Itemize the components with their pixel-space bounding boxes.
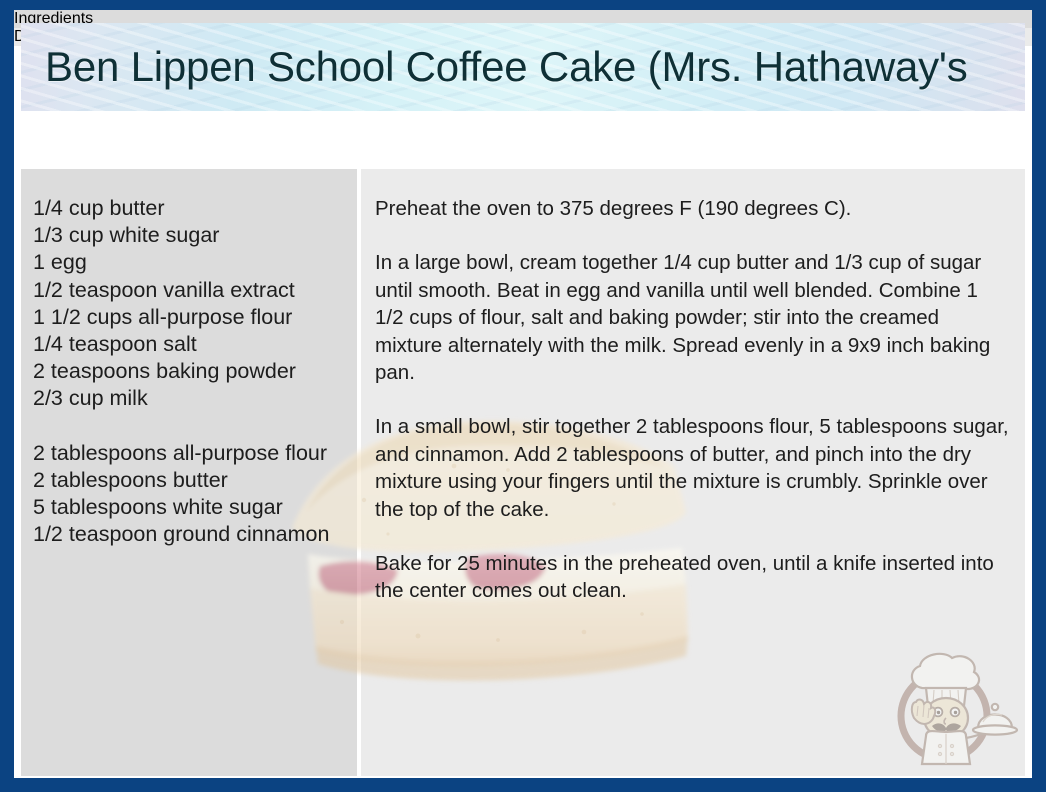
ingredient-item: 1/3 cup white sugar <box>33 222 357 249</box>
ingredient-item: 1/2 teaspoon vanilla extract <box>33 277 357 304</box>
direction-step: Preheat the oven to 375 degrees F (190 d… <box>375 195 1009 222</box>
recipe-card-page: Ben Lippen School Coffee Cake (Mrs. Hath… <box>0 0 1046 792</box>
page-title: Ben Lippen School Coffee Cake (Mrs. Hath… <box>45 43 968 91</box>
ingredient-item: 1 egg <box>33 249 357 276</box>
ingredient-item: 1/2 teaspoon ground cinnamon <box>33 521 357 548</box>
directions-panel: Preheat the oven to 375 degrees F (190 d… <box>361 169 1025 776</box>
ingredient-item: 2/3 cup milk <box>33 385 357 412</box>
directions-steps: Preheat the oven to 375 degrees F (190 d… <box>361 169 1025 605</box>
ingredient-item: 2 teaspoons baking powder <box>33 358 357 385</box>
direction-step: In a small bowl, stir together 2 tablesp… <box>375 413 1009 523</box>
directions-panel-body: Preheat the oven to 375 degrees F (190 d… <box>361 169 1025 605</box>
header-banner: Ben Lippen School Coffee Cake (Mrs. Hath… <box>21 23 1025 111</box>
ingredient-item: 1/4 cup butter <box>33 195 357 222</box>
recipe-card-inner: Ben Lippen School Coffee Cake (Mrs. Hath… <box>14 10 1032 778</box>
ingredient-item: 1 1/2 cups all-purpose flour <box>33 304 357 331</box>
direction-step: In a large bowl, cream together 1/4 cup … <box>375 249 1009 386</box>
ingredients-list: 1/4 cup butter1/3 cup white sugar1 egg1/… <box>21 169 357 548</box>
ingredients-panel: 1/4 cup butter1/3 cup white sugar1 egg1/… <box>21 169 357 776</box>
ingredient-item: 5 tablespoons white sugar <box>33 494 357 521</box>
ingredient-item: 1/4 teaspoon salt <box>33 331 357 358</box>
direction-step: Bake for 25 minutes in the preheated ove… <box>375 550 1009 605</box>
ingredients-panel-body: 1/4 cup butter1/3 cup white sugar1 egg1/… <box>21 169 357 548</box>
ingredient-item: 2 tablespoons butter <box>33 467 357 494</box>
ingredient-spacer <box>33 413 357 440</box>
ingredient-item: 2 tablespoons all-purpose flour <box>33 440 357 467</box>
